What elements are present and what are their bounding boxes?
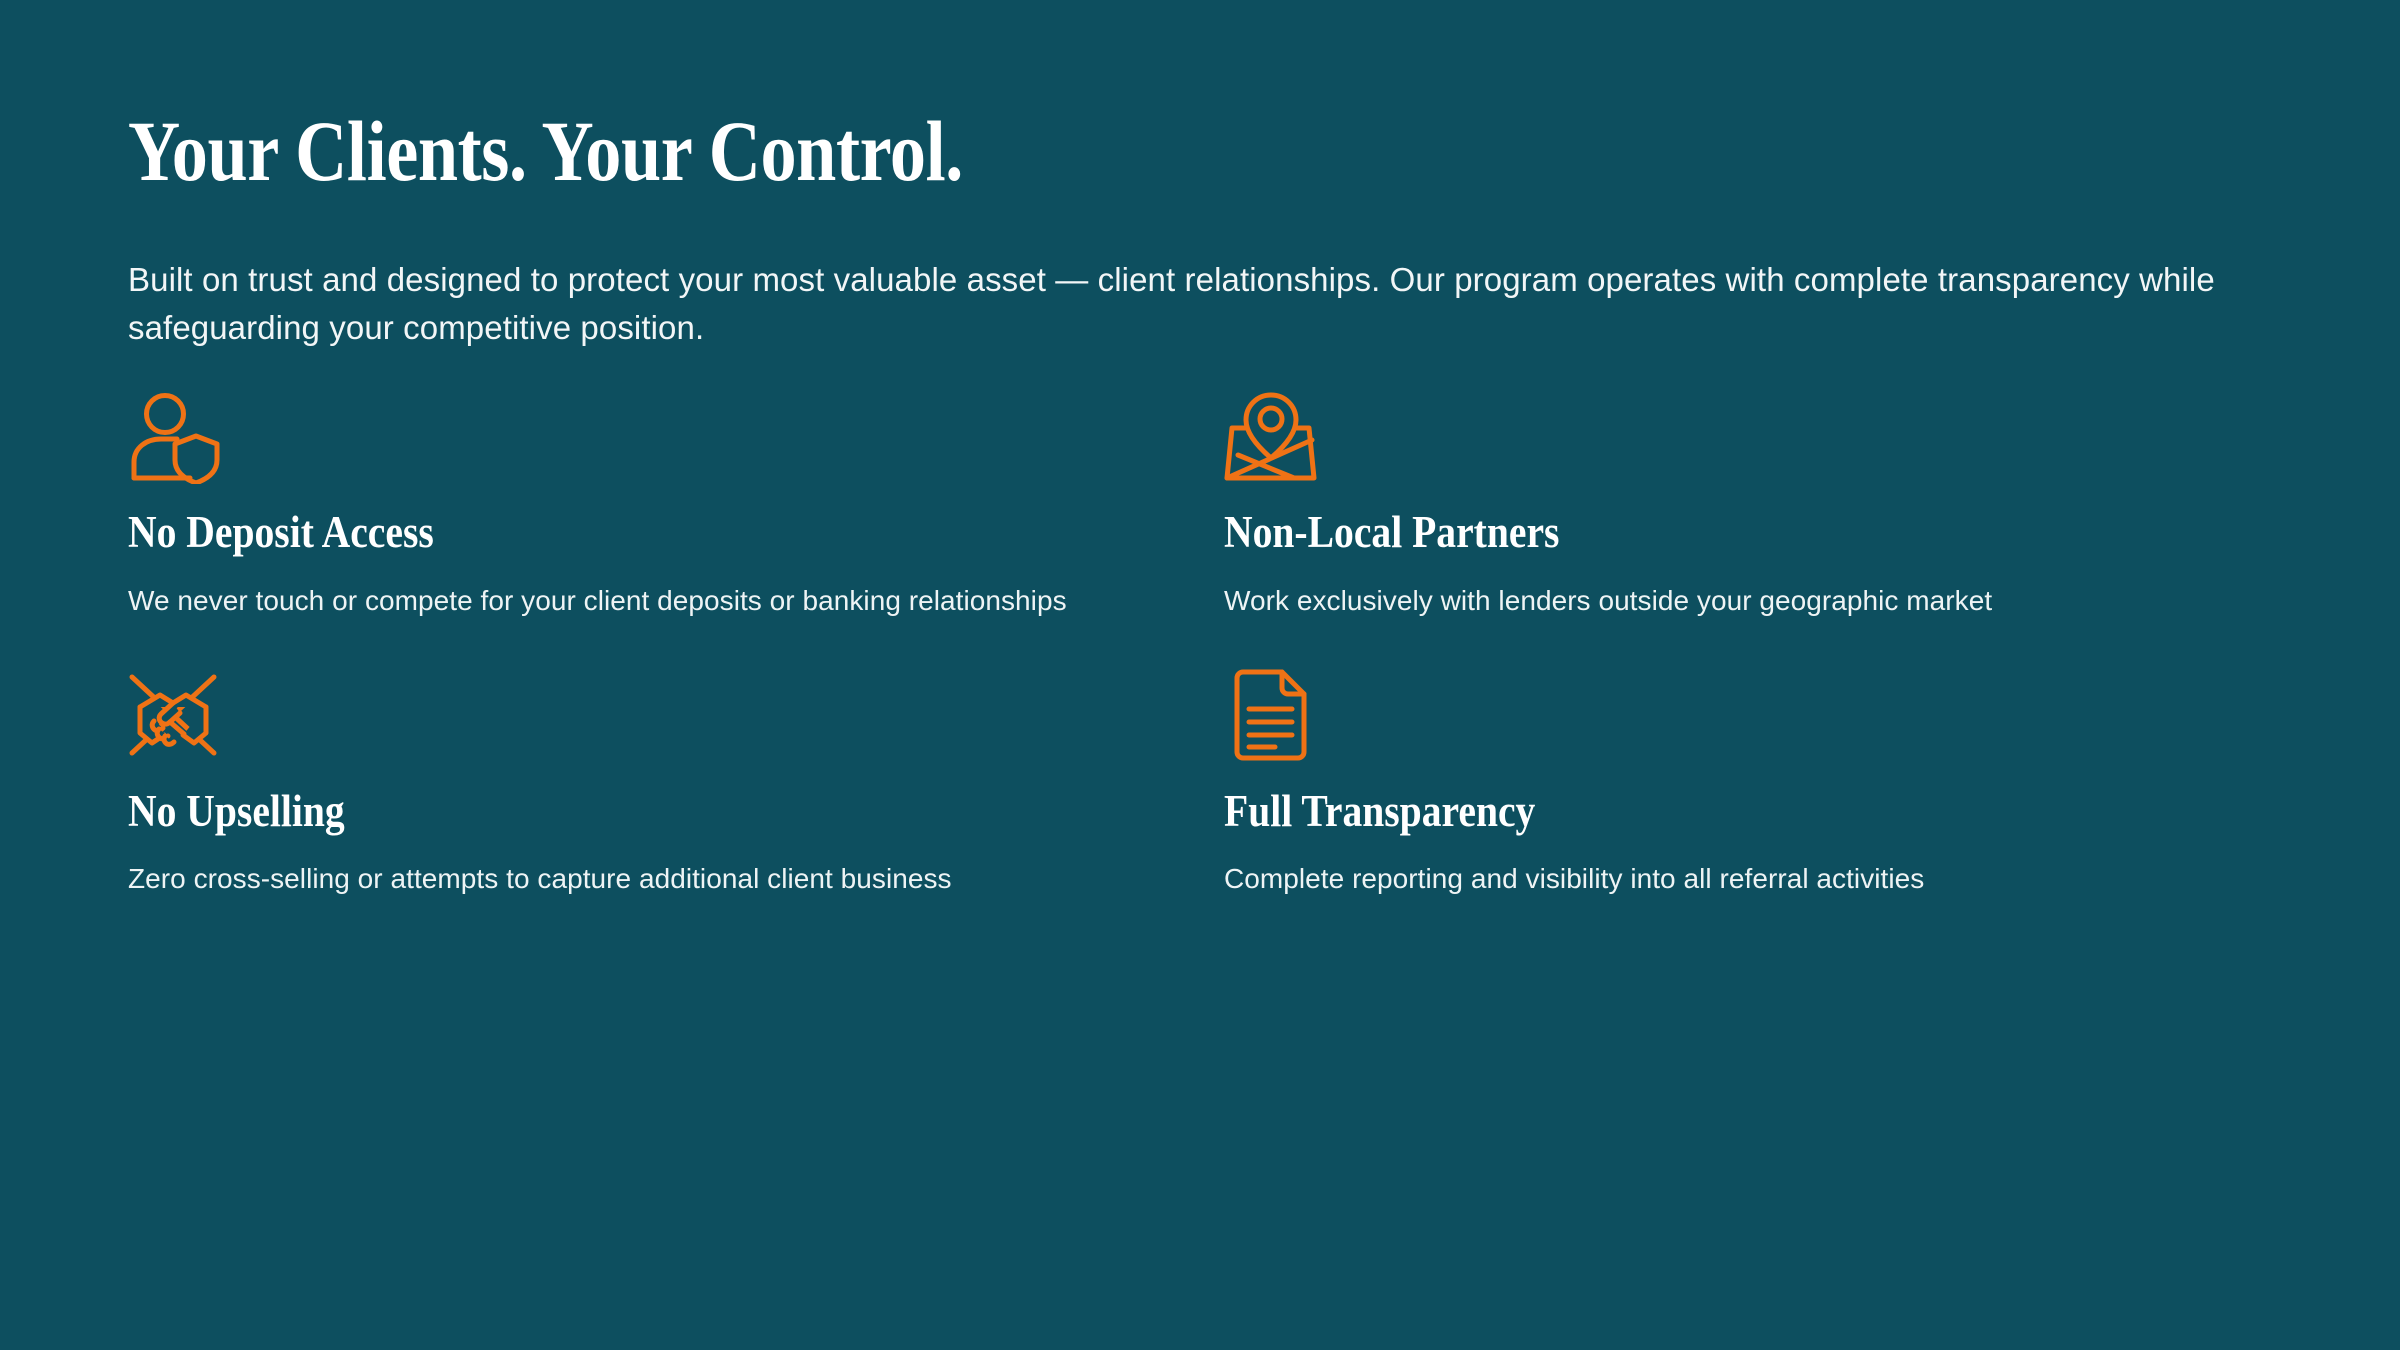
page-title: Your Clients. Your Control. <box>128 0 1929 194</box>
document-lines-icon <box>1224 669 1320 761</box>
feature-title: No Deposit Access <box>128 508 987 557</box>
feature-card-full-transparency: Full Transparency Complete reporting and… <box>1224 669 2320 901</box>
map-pin-icon <box>1224 392 1320 484</box>
clients-control-section: Your Clients. Your Control. Built on tru… <box>0 0 2400 1350</box>
no-handshake-icon <box>128 669 224 761</box>
feature-card-non-local-partners: Non-Local Partners Work exclusively with… <box>1224 392 2320 622</box>
feature-title: Non-Local Partners <box>1224 508 2083 557</box>
feature-grid: No Deposit Access We never touch or comp… <box>128 392 2272 901</box>
feature-card-no-upselling: No Upselling Zero cross-selling or attem… <box>128 669 1224 901</box>
feature-description: Complete reporting and visibility into a… <box>1224 857 2184 901</box>
feature-card-no-deposit-access: No Deposit Access We never touch or comp… <box>128 392 1224 622</box>
feature-description: Work exclusively with lenders outside yo… <box>1224 579 2184 623</box>
feature-description: Zero cross-selling or attempts to captur… <box>128 857 1088 901</box>
feature-title: No Upselling <box>128 787 987 836</box>
feature-description: We never touch or compete for your clien… <box>128 579 1088 623</box>
feature-title: Full Transparency <box>1224 787 2083 836</box>
user-shield-icon <box>128 392 224 484</box>
intro-paragraph: Built on trust and designed to protect y… <box>128 194 2238 352</box>
